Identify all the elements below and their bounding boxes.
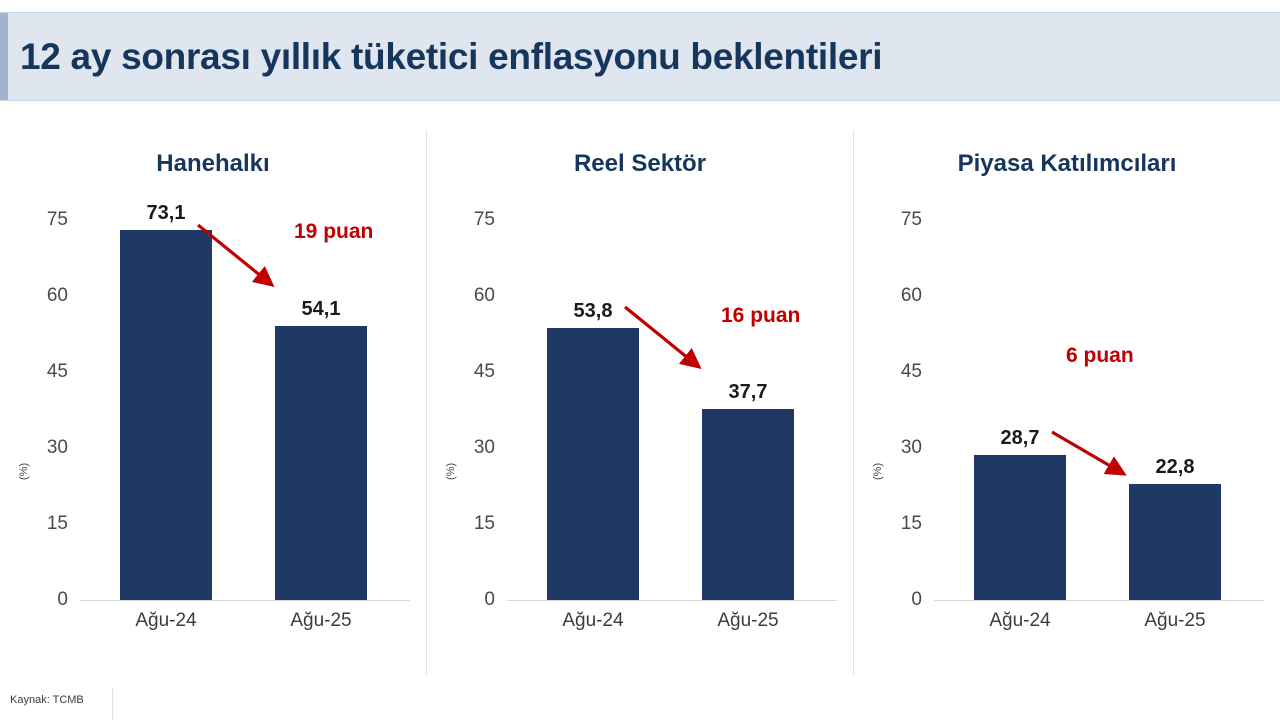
title-banner: 12 ay sonrası yıllık tüketici enflasyonu…	[0, 12, 1280, 101]
change-arrow-icon	[934, 402, 1264, 542]
y-tick-label: 15	[47, 513, 68, 535]
plot-area: (%) 75 60 45 30 15 0 73,1 Ağu-24 54,1 Ağ…	[80, 220, 410, 700]
y-axis-label: (%)	[18, 463, 30, 480]
source-note: Kaynak: TCMB	[10, 694, 84, 706]
y-tick-label: 30	[901, 437, 922, 459]
y-tick-label: 0	[911, 589, 922, 611]
chart-panel-hanehalki: Hanehalkı (%) 75 60 45 30 15 0 73,1 Ağu-…	[0, 120, 426, 680]
annotation-label: 16 puan	[721, 304, 800, 328]
page-title: 12 ay sonrası yıllık tüketici enflasyonu…	[20, 36, 882, 78]
footer-divider	[112, 688, 113, 720]
bar-agu-25	[702, 409, 794, 600]
y-tick-label: 60	[47, 285, 68, 307]
y-tick-label: 75	[901, 209, 922, 231]
chart-title: Hanehalkı	[0, 150, 426, 178]
x-tick-label: Ağu-24	[135, 610, 196, 632]
plot-area: (%) 75 60 45 30 15 0 53,8 Ağu-24 37,7 Ağ…	[507, 220, 837, 700]
y-tick-label: 45	[47, 361, 68, 383]
y-tick-label: 75	[474, 209, 495, 231]
y-tick-label: 15	[474, 513, 495, 535]
y-tick-label: 75	[47, 209, 68, 231]
y-tick-label: 45	[901, 361, 922, 383]
x-tick-label: Ağu-25	[290, 610, 351, 632]
y-tick-label: 30	[47, 437, 68, 459]
y-axis-label: (%)	[872, 463, 884, 480]
x-axis-line	[934, 600, 1264, 601]
x-tick-label: Ağu-24	[562, 610, 623, 632]
title-accent-bar	[0, 13, 8, 100]
x-axis-line	[507, 600, 837, 601]
x-tick-label: Ağu-25	[1144, 610, 1205, 632]
x-axis-line	[80, 600, 410, 601]
charts-container: Hanehalkı (%) 75 60 45 30 15 0 73,1 Ağu-…	[0, 120, 1280, 680]
annotation-label: 6 puan	[1066, 344, 1134, 368]
y-tick-label: 60	[901, 285, 922, 307]
y-axis-label: (%)	[445, 463, 457, 480]
plot-area: (%) 75 60 45 30 15 0 28,7 Ağu-24 22,8 Ağ…	[934, 220, 1264, 700]
chart-title: Piyasa Katılımcıları	[854, 150, 1280, 178]
y-tick-label: 45	[474, 361, 495, 383]
chart-title: Reel Sektör	[427, 150, 853, 178]
chart-panel-reel-sektor: Reel Sektör (%) 75 60 45 30 15 0 53,8 Ağ…	[427, 120, 853, 680]
y-tick-label: 60	[474, 285, 495, 307]
chart-panel-piyasa-katilimcilari: Piyasa Katılımcıları (%) 75 60 45 30 15 …	[854, 120, 1280, 680]
y-tick-label: 0	[57, 589, 68, 611]
annotation-label: 19 puan	[294, 220, 373, 244]
y-tick-label: 15	[901, 513, 922, 535]
change-arrow-icon	[80, 190, 410, 340]
x-tick-label: Ağu-25	[717, 610, 778, 632]
bar-agu-25	[275, 326, 367, 600]
x-tick-label: Ağu-24	[989, 610, 1050, 632]
y-tick-label: 0	[484, 589, 495, 611]
change-arrow-icon	[507, 275, 837, 425]
y-tick-label: 30	[474, 437, 495, 459]
